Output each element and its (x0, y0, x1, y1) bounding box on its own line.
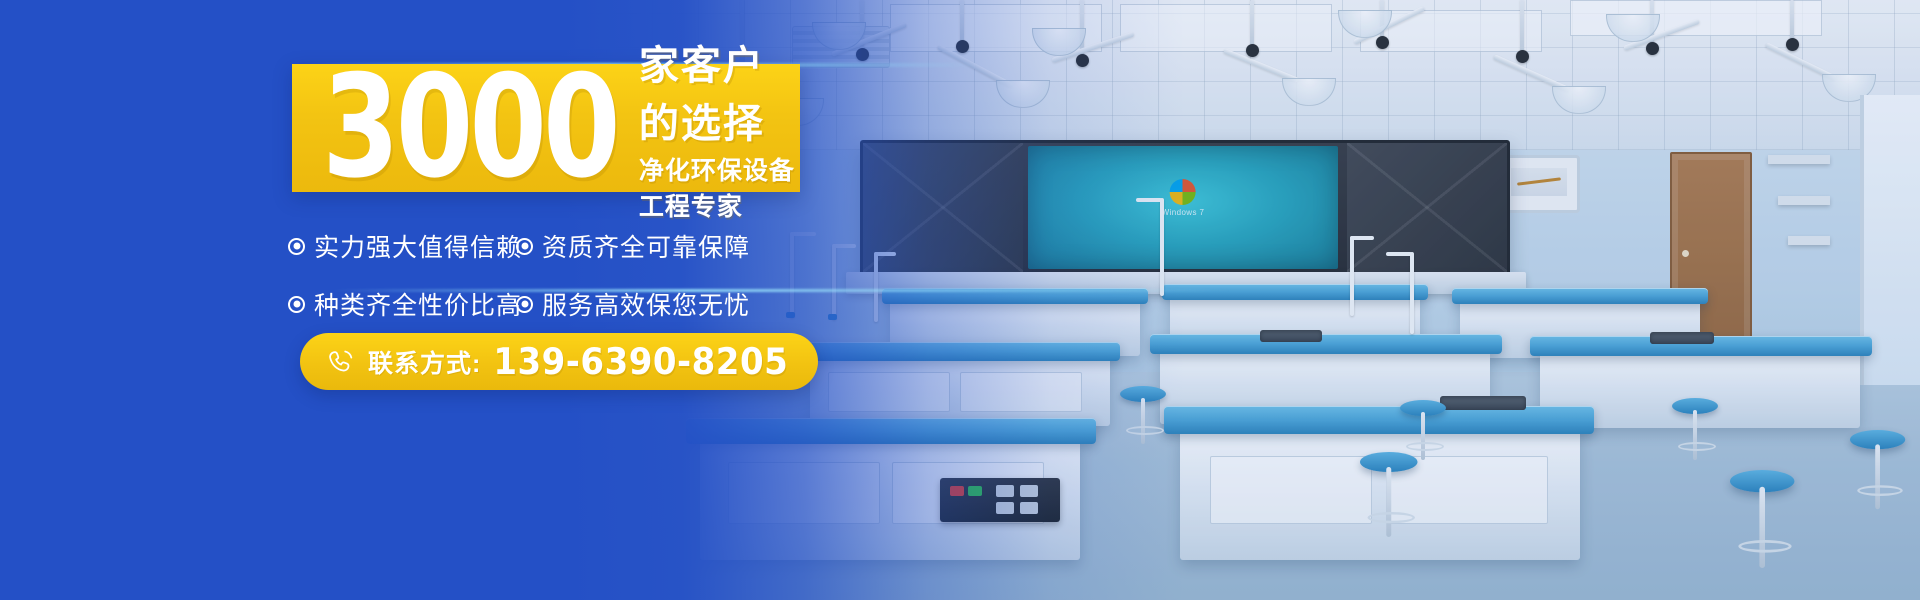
stool-leg (1693, 410, 1697, 460)
stool-footring (1406, 442, 1444, 451)
lab-bench-top (1164, 406, 1594, 434)
feature-label: 服务高效保您无忧 (542, 286, 750, 322)
feature-item: 实力强大值得信赖 (288, 228, 516, 264)
wall-shelf (1778, 196, 1830, 205)
stool-footring (1368, 512, 1416, 523)
stool-leg (1386, 467, 1391, 537)
feature-item: 服务高效保您无忧 (516, 286, 848, 322)
lab-bench-top (1150, 334, 1502, 354)
ceiling-panel (1120, 4, 1332, 52)
control-led-green (968, 486, 982, 496)
windows-flag-icon (1170, 179, 1196, 205)
control-switch (996, 485, 1014, 497)
feature-label: 资质齐全可靠保障 (542, 228, 750, 264)
bench-tap-spout (874, 252, 896, 256)
bench-tap (874, 252, 878, 322)
arm-joint (1646, 42, 1659, 55)
arm-joint (1246, 44, 1259, 57)
headline-text-group: 家客户的选择 净化环保设备工程专家 (639, 33, 800, 223)
bullet-dot-icon (516, 296, 533, 313)
bench-tap-spout (1386, 252, 1412, 256)
promo-banner: Windows 7 (0, 0, 1920, 600)
client-count: 3000 (322, 67, 617, 189)
stool-leg (1759, 487, 1765, 568)
banner-content: 3000 家客户的选择 净化环保设备工程专家 实力强大值得信赖 资质齐全可靠保障… (0, 0, 860, 600)
stool-leg (1421, 412, 1425, 460)
stool-leg (1141, 398, 1145, 444)
bench-tap (1160, 198, 1164, 296)
interactive-display: Windows 7 (1028, 146, 1338, 269)
arm-joint (1516, 50, 1529, 63)
bench-cabinet-panel (960, 372, 1082, 412)
headline-main-text: 家客户的选择 (639, 33, 800, 149)
stool-leg (1875, 444, 1880, 509)
lab-bench-top (1162, 284, 1428, 300)
windows-logo-text: Windows 7 (1162, 208, 1205, 217)
bullet-dot-icon (288, 296, 305, 313)
bench-sink (1440, 396, 1526, 410)
contact-pill[interactable]: 联系方式: 139-6390-8205 (300, 333, 818, 390)
headline-box: 3000 家客户的选择 净化环保设备工程专家 (292, 64, 800, 192)
control-switch (1020, 485, 1038, 497)
bench-tap-spout (1136, 198, 1162, 202)
bullet-dot-icon (288, 238, 305, 255)
arm-joint (956, 40, 969, 53)
wall-picture-frame (1500, 155, 1580, 213)
headline-sub-text: 净化环保设备工程专家 (639, 151, 800, 223)
wall-picture-art (1511, 168, 1567, 196)
stool-footring (1857, 485, 1903, 496)
wall-shelf (1768, 155, 1830, 164)
feature-item: 资质齐全可靠保障 (516, 228, 848, 264)
control-led-red (950, 486, 964, 496)
bench-tap (1350, 236, 1354, 316)
feature-item: 种类齐全性价比高 (288, 286, 516, 322)
contact-number: 139-6390-8205 (493, 340, 788, 383)
board-wing-pattern (1347, 143, 1507, 272)
phone-icon (326, 347, 356, 377)
feature-list: 实力强大值得信赖 资质齐全可靠保障 种类齐全性价比高 服务高效保您无忧 (288, 228, 848, 322)
stool-footring (1738, 540, 1791, 553)
arm-joint (1786, 38, 1799, 51)
board-right-wing (1347, 143, 1507, 272)
bullet-dot-icon (516, 238, 533, 255)
contact-label: 联系方式: (368, 344, 481, 380)
windows-logo: Windows 7 (1162, 179, 1205, 217)
arm-joint (1376, 36, 1389, 49)
feature-label: 种类齐全性价比高 (314, 286, 522, 322)
door-knob (1682, 250, 1689, 257)
stool-footring (1678, 442, 1716, 451)
bench-tap (1410, 252, 1414, 334)
control-switch (1020, 502, 1038, 514)
stool-footring (1126, 426, 1164, 435)
lab-bench-top (1452, 288, 1708, 304)
feature-label: 实力强大值得信赖 (314, 228, 522, 264)
bench-control-panel (940, 478, 1060, 522)
wall-shelf (1788, 236, 1830, 245)
arm-joint (1076, 54, 1089, 67)
bench-sink (1260, 330, 1322, 342)
bench-cabinet-panel (1210, 456, 1372, 524)
bench-tap-spout (1350, 236, 1374, 240)
control-switch (996, 502, 1014, 514)
bench-sink (1650, 332, 1714, 344)
